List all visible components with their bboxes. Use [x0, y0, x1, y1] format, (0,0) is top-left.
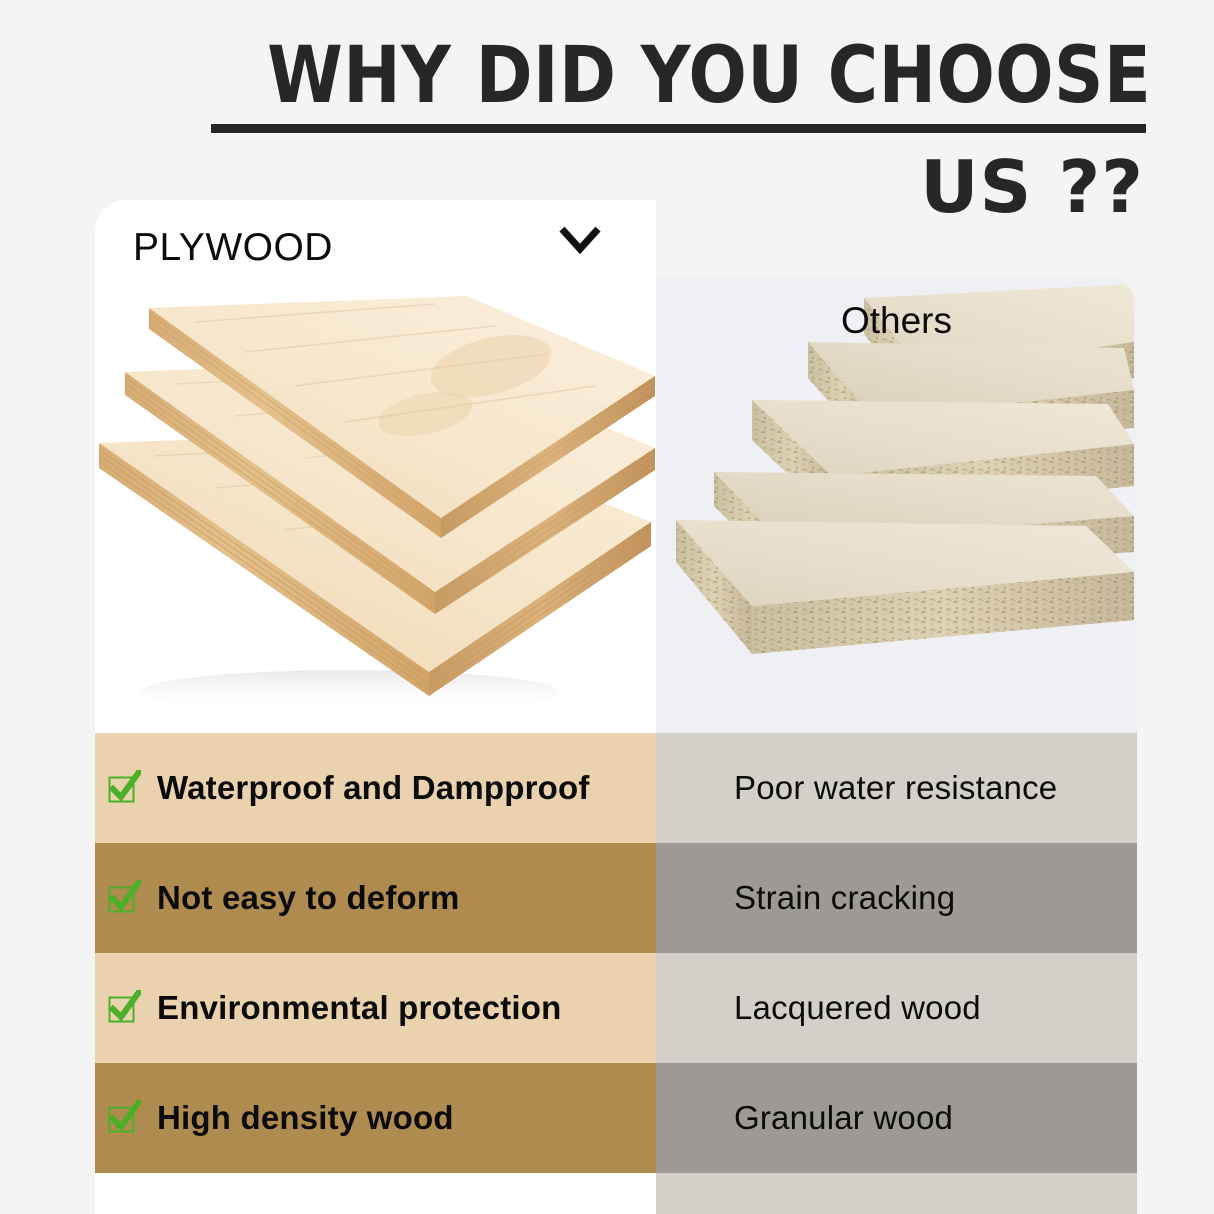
others-panel: Others [656, 276, 1137, 733]
row-right-cell: Granular wood [656, 1063, 1137, 1173]
heading-underline-rule [211, 124, 1146, 133]
heading-line-1: WHY DID YOU CHOOSE [267, 38, 1090, 114]
right-column-tail [656, 1173, 1137, 1214]
row-right-cell: Poor water resistance [656, 733, 1137, 843]
row-left-label: Not easy to deform [157, 879, 460, 917]
table-row: Not easy to deform Strain cracking [95, 843, 1137, 953]
particleboard-illustration [656, 276, 1137, 733]
row-left-label: Environmental protection [157, 989, 562, 1027]
particleboard-image [656, 276, 1137, 733]
others-label: Others [656, 300, 1137, 342]
table-row: High density wood Granular wood [95, 1063, 1137, 1173]
row-left-cell: High density wood [95, 1063, 656, 1173]
table-row: Waterproof and Dampproof Poor water resi… [95, 733, 1137, 843]
row-left-label: Waterproof and Dampproof [157, 769, 590, 807]
plywood-panel: PLYWOOD [95, 200, 656, 733]
row-left-cell: Not easy to deform [95, 843, 656, 953]
check-square-icon [107, 770, 141, 804]
row-right-label: Poor water resistance [734, 769, 1057, 807]
row-left-cell: Environmental protection [95, 953, 656, 1063]
check-square-icon [107, 990, 141, 1024]
row-left-cell: Waterproof and Dampproof [95, 733, 656, 843]
table-row: Environmental protection Lacquered wood [95, 953, 1137, 1063]
comparison-board: PLYWOOD [95, 200, 1137, 1214]
page-heading: WHY DID YOU CHOOSE US ?? [211, 38, 1146, 223]
comparison-rows: Waterproof and Dampproof Poor water resi… [95, 733, 1137, 1214]
chevron-down-icon [558, 224, 602, 259]
check-square-icon [107, 880, 141, 914]
check-square-icon [107, 1100, 141, 1134]
row-right-cell: Lacquered wood [656, 953, 1137, 1063]
plywood-illustration [95, 200, 656, 733]
plywood-image [95, 200, 656, 733]
row-right-label: Granular wood [734, 1099, 953, 1137]
photo-panels: PLYWOOD [95, 200, 1137, 733]
row-right-label: Lacquered wood [734, 989, 981, 1027]
plywood-label: PLYWOOD [133, 226, 333, 270]
row-right-label: Strain cracking [734, 879, 955, 917]
row-left-label: High density wood [157, 1099, 454, 1137]
left-column-tail [95, 1173, 656, 1214]
row-right-cell: Strain cracking [656, 843, 1137, 953]
